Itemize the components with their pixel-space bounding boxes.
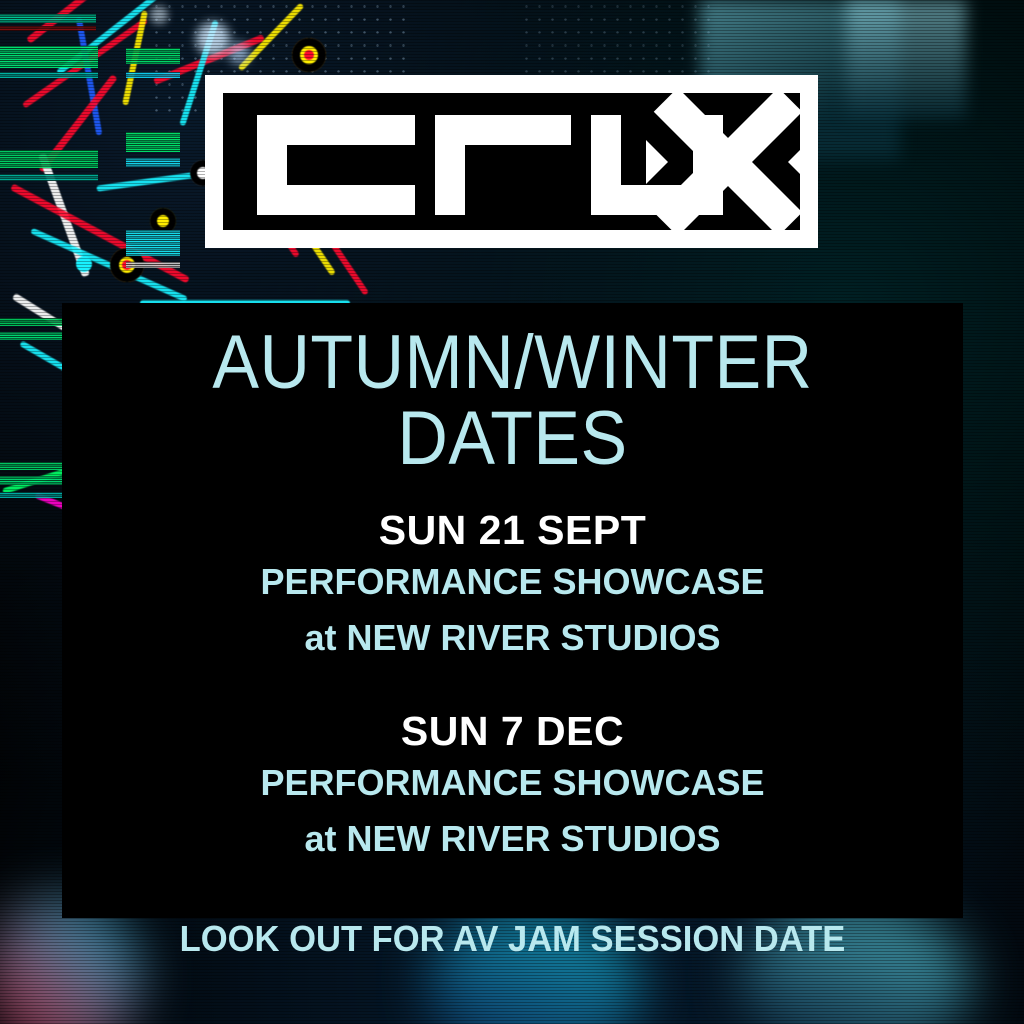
background-bokeh-1 [196,22,230,56]
event-1-description: PERFORMANCE SHOWCASE [62,554,963,610]
dates-panel: AUTUMN/WINTER DATES SUN 21 SEPT PERFORMA… [62,303,963,918]
event-block-1: SUN 21 SEPT PERFORMANCE SHOWCASE at NEW … [62,507,963,666]
event-1-venue: at NEW RIVER STUDIOS [62,610,963,666]
event-block-2: SUN 7 DEC PERFORMANCE SHOWCASE at NEW RI… [62,708,963,867]
logo-x-wedge-left [646,140,668,184]
background-haze-upperright [846,0,966,120]
page-title: AUTUMN/WINTER DATES [98,303,927,477]
event-1-date: SUN 21 SEPT [62,507,963,554]
event-2-description: PERFORMANCE SHOWCASE [62,755,963,811]
footnote-text: LOOK OUT FOR AV JAM SESSION DATE [80,918,945,960]
logo-letter-r-arm [435,115,571,145]
logo-letter-c-bottom [257,185,415,215]
crux-logo [205,75,818,248]
event-2-date: SUN 7 DEC [62,708,963,755]
background-bokeh-2 [228,42,250,64]
crux-logo-inner-panel [223,93,800,230]
logo-letter-x-icon [640,81,816,242]
logo-x-wedge-right [788,140,810,184]
event-poster: AUTUMN/WINTER DATES SUN 21 SEPT PERFORMA… [0,0,1024,1024]
event-2-venue: at NEW RIVER STUDIOS [62,811,963,867]
